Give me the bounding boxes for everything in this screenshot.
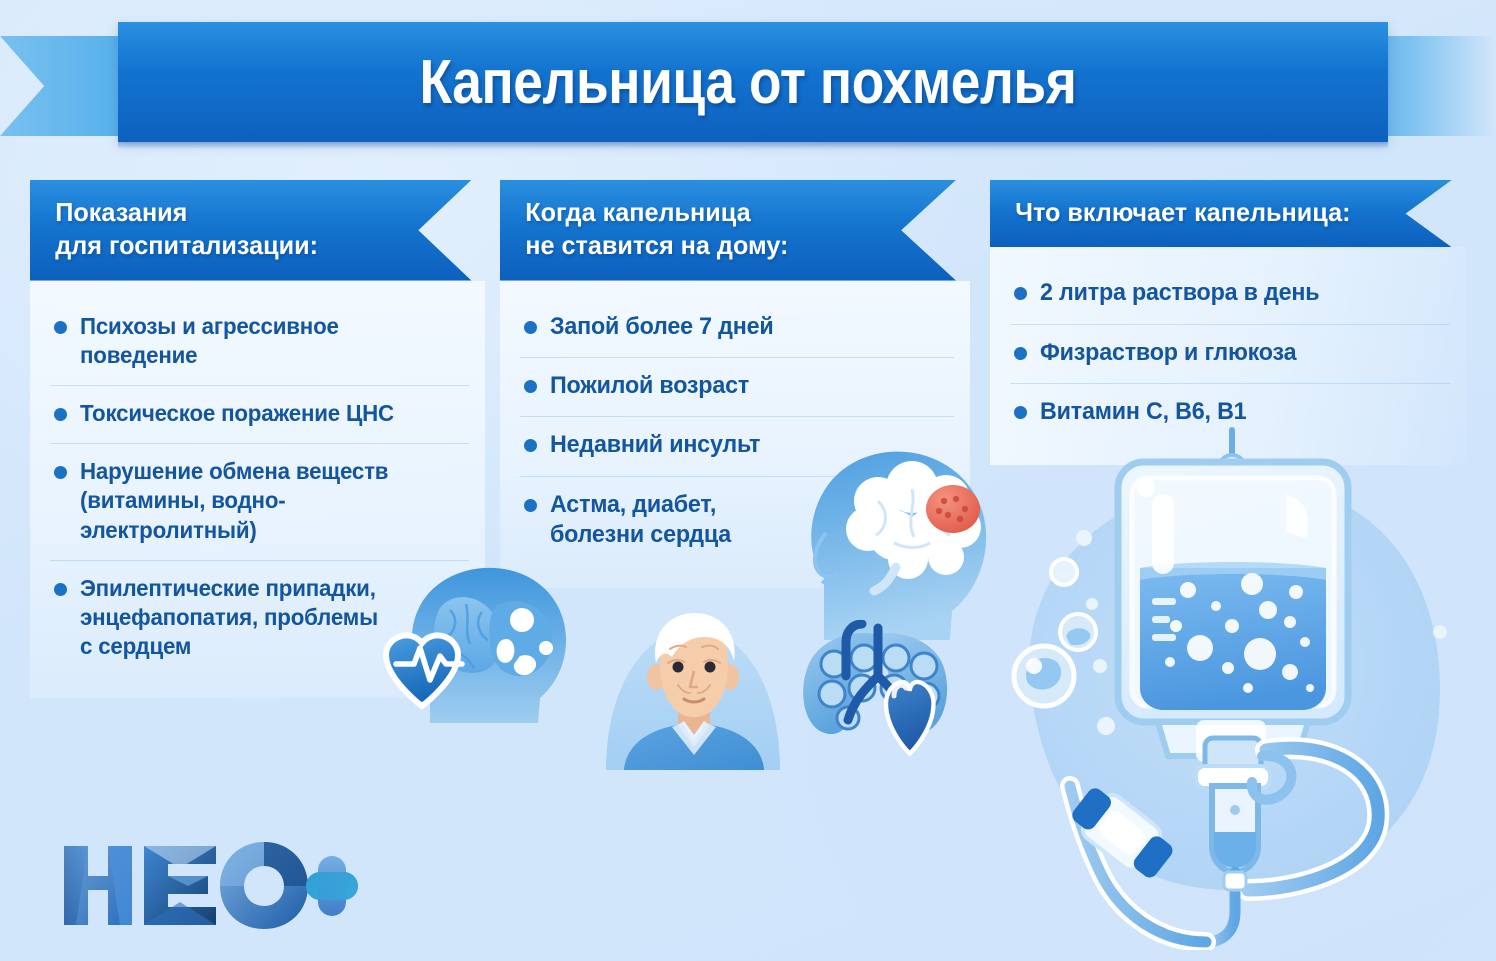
list-item-text: Недавний инсульт <box>550 430 760 460</box>
column-body-contraindications: Запой более 7 дней Пожилой возраст Недав… <box>500 281 970 588</box>
list-item: Токсическое поражение ЦНС <box>50 385 469 443</box>
list-item-text: Пожилой возраст <box>550 371 749 401</box>
list-item: Витамин С, В6, В1 <box>1010 383 1450 442</box>
column-body-contents: 2 литра раствора в день Физраствор и глю… <box>990 247 1466 464</box>
list-item: Эпилептические припадки, энцефапопатия, … <box>50 560 469 677</box>
bullet-dot-icon <box>54 408 67 421</box>
list-item: 2 литра раствора в день <box>1010 265 1450 323</box>
list-item: Недавний инсульт <box>520 416 954 475</box>
bullet-dot-icon <box>524 321 537 334</box>
lungs-heart-icon <box>790 620 965 760</box>
list-item-text: Нарушение обмена веществ (витамины, водн… <box>80 457 453 545</box>
iv-drip-bag-icon <box>1000 420 1490 950</box>
bullet-dot-icon <box>1014 406 1027 419</box>
bullet-dot-icon <box>524 499 537 512</box>
list-item: Психозы и агрессивное поведение <box>50 299 469 385</box>
list-item-text: Физраствор и глюкоза <box>1040 338 1296 368</box>
header-line: Что включает капельница: <box>1015 196 1393 229</box>
list-item-text: Токсическое поражение ЦНС <box>80 399 394 428</box>
column-header-contraindications: Когда капельница не ставится на дому: <box>500 180 956 281</box>
list-item-text: Астма, диабет, болезни сердца <box>550 490 731 551</box>
list-item-text: Витамин С, В6, В1 <box>1040 397 1246 427</box>
list-item-text: 2 литра раствора в день <box>1040 278 1319 308</box>
list-item: Астма, диабет, болезни сердца <box>520 476 954 566</box>
list-item: Пожилой возраст <box>520 357 954 416</box>
list-item-text: Эпилептические припадки, энцефапопатия, … <box>80 574 378 662</box>
list-item: Запой более 7 дней <box>520 299 954 357</box>
column-contraindications: Когда капельница не ставится на дому: За… <box>500 180 970 588</box>
title-banner: Капельница от похмелья <box>0 22 1496 142</box>
bullet-dot-icon <box>1014 347 1027 360</box>
column-contents: Что включает капельница: 2 литра раствор… <box>990 180 1466 465</box>
bullet-dot-icon <box>54 466 67 479</box>
list-item: Нарушение обмена веществ (витамины, водн… <box>50 443 469 560</box>
column-header-contents: Что включает капельница: <box>990 180 1452 247</box>
bullet-dot-icon <box>1014 287 1027 300</box>
list-item-text: Психозы и агрессивное поведение <box>80 312 339 370</box>
header-line: Когда капельница <box>525 196 888 229</box>
header-line: для госпитализации: <box>55 229 403 262</box>
elderly-man-avatar-icon <box>600 605 785 770</box>
page-title: Капельница от похмелья <box>105 22 1392 142</box>
bullet-dot-icon <box>54 583 67 596</box>
bullet-dot-icon <box>54 321 67 334</box>
list-item-text: Запой более 7 дней <box>550 312 773 342</box>
column-header-indications: Показания для госпитализации: <box>30 180 471 281</box>
infographic-poster: Капельница от похмелья Показания для гос… <box>0 0 1496 961</box>
neo-plus-logo <box>58 838 358 933</box>
list-item: Физраствор и глюкоза <box>1010 324 1450 383</box>
bullet-dot-icon <box>524 439 537 452</box>
column-indications: Показания для госпитализации: Психозы и … <box>30 180 485 698</box>
header-line: Показания <box>55 196 403 229</box>
header-line: не ставится на дому: <box>525 229 888 262</box>
column-body-indications: Психозы и агрессивное поведение Токсичес… <box>30 281 485 699</box>
bullet-dot-icon <box>524 380 537 393</box>
